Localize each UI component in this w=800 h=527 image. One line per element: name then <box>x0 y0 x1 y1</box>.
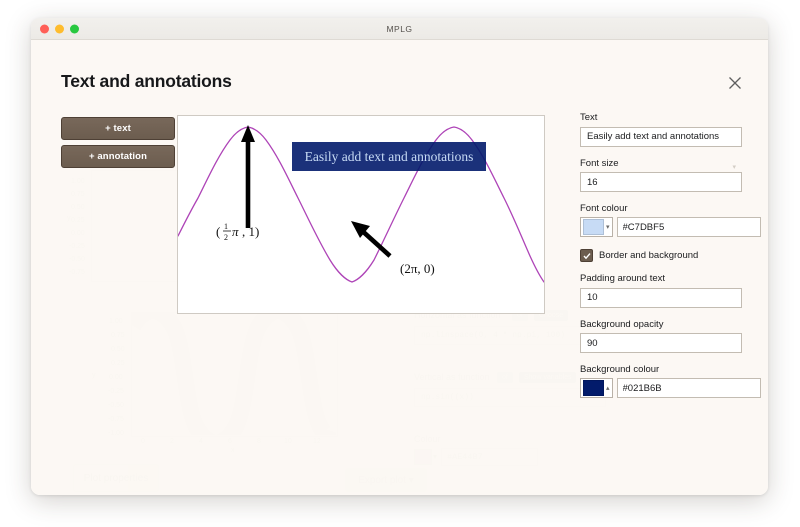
padding-label: Padding around text <box>580 273 742 284</box>
window-title: MPLG <box>31 24 768 34</box>
text-label: Text <box>580 112 742 123</box>
font-size-label: Font size <box>580 158 742 169</box>
screenshot-root: MPLG y 1.00 0.75 0.50 0.25 0.00 -0.25 -0… <box>0 0 800 527</box>
background-colour-swatch <box>583 380 604 396</box>
close-icon[interactable] <box>726 74 744 92</box>
padding-input[interactable] <box>580 288 742 308</box>
field-text: Text <box>580 112 742 147</box>
border-background-label: Border and background <box>599 250 698 261</box>
add-annotation-button[interactable]: + annotation <box>61 145 175 168</box>
window-content: y 1.00 0.75 0.50 0.25 0.00 -0.25 -0.50 -… <box>31 40 768 495</box>
text-input[interactable] <box>580 127 742 147</box>
field-font-colour: Font colour ▾ <box>580 203 742 237</box>
app-window: MPLG y 1.00 0.75 0.50 0.25 0.00 -0.25 -0… <box>31 18 768 495</box>
plot-preview-svg: Easily add text and annotations ( 1 2 π … <box>178 116 544 313</box>
page-title: Text and annotations <box>61 71 232 92</box>
svg-text:(: ( <box>216 224 220 239</box>
chevron-down-icon: ▾ <box>732 163 736 171</box>
field-background-colour: Background colour ▴ <box>580 364 742 398</box>
svg-text:π: π <box>232 224 239 239</box>
svg-text:1: 1 <box>224 222 228 231</box>
background-opacity-input[interactable] <box>580 333 742 353</box>
text-annotations-dialog: Text and annotations + text + annotation <box>31 40 768 495</box>
annotation-label-two-pi: (2π, 0) <box>400 261 435 276</box>
font-colour-swatch <box>583 219 604 235</box>
traffic-light-buttons[interactable] <box>40 24 79 33</box>
font-colour-swatch-button[interactable]: ▾ <box>580 217 613 237</box>
border-background-checkbox-row[interactable]: Border and background <box>580 249 742 262</box>
window-titlebar: MPLG <box>31 18 768 40</box>
close-window-icon[interactable] <box>40 24 49 33</box>
maximize-window-icon[interactable] <box>70 24 79 33</box>
background-colour-swatch-button[interactable]: ▴ <box>580 378 613 398</box>
annotation-properties-form: Text Font size ▾ Font colour ▾ <box>580 112 742 409</box>
font-colour-label: Font colour <box>580 203 742 214</box>
annotation-actions: + text + annotation <box>61 117 175 168</box>
add-text-button[interactable]: + text <box>61 117 175 140</box>
field-background-opacity: Background opacity <box>580 319 742 354</box>
svg-text:2: 2 <box>224 233 228 242</box>
text-box-annotation: Easily add text and annotations <box>292 142 486 171</box>
chevron-up-icon: ▴ <box>606 385 610 392</box>
svg-text:, 1): , 1) <box>242 224 259 239</box>
background-colour-hex-input[interactable] <box>617 378 761 398</box>
plot-preview[interactable]: Easily add text and annotations ( 1 2 π … <box>177 115 545 314</box>
minimize-window-icon[interactable] <box>55 24 64 33</box>
background-colour-row: ▴ <box>580 378 742 398</box>
field-padding: Padding around text <box>580 273 742 308</box>
font-colour-hex-input[interactable] <box>617 217 761 237</box>
background-colour-label: Background colour <box>580 364 742 375</box>
font-size-input[interactable] <box>580 172 742 192</box>
background-opacity-label: Background opacity <box>580 319 742 330</box>
field-font-size: Font size ▾ <box>580 158 742 193</box>
chevron-down-icon: ▾ <box>606 224 610 231</box>
text-box-annotation-label: Easily add text and annotations <box>305 149 474 164</box>
font-colour-row: ▾ <box>580 217 742 237</box>
checkbox-checked-icon[interactable] <box>580 249 593 262</box>
